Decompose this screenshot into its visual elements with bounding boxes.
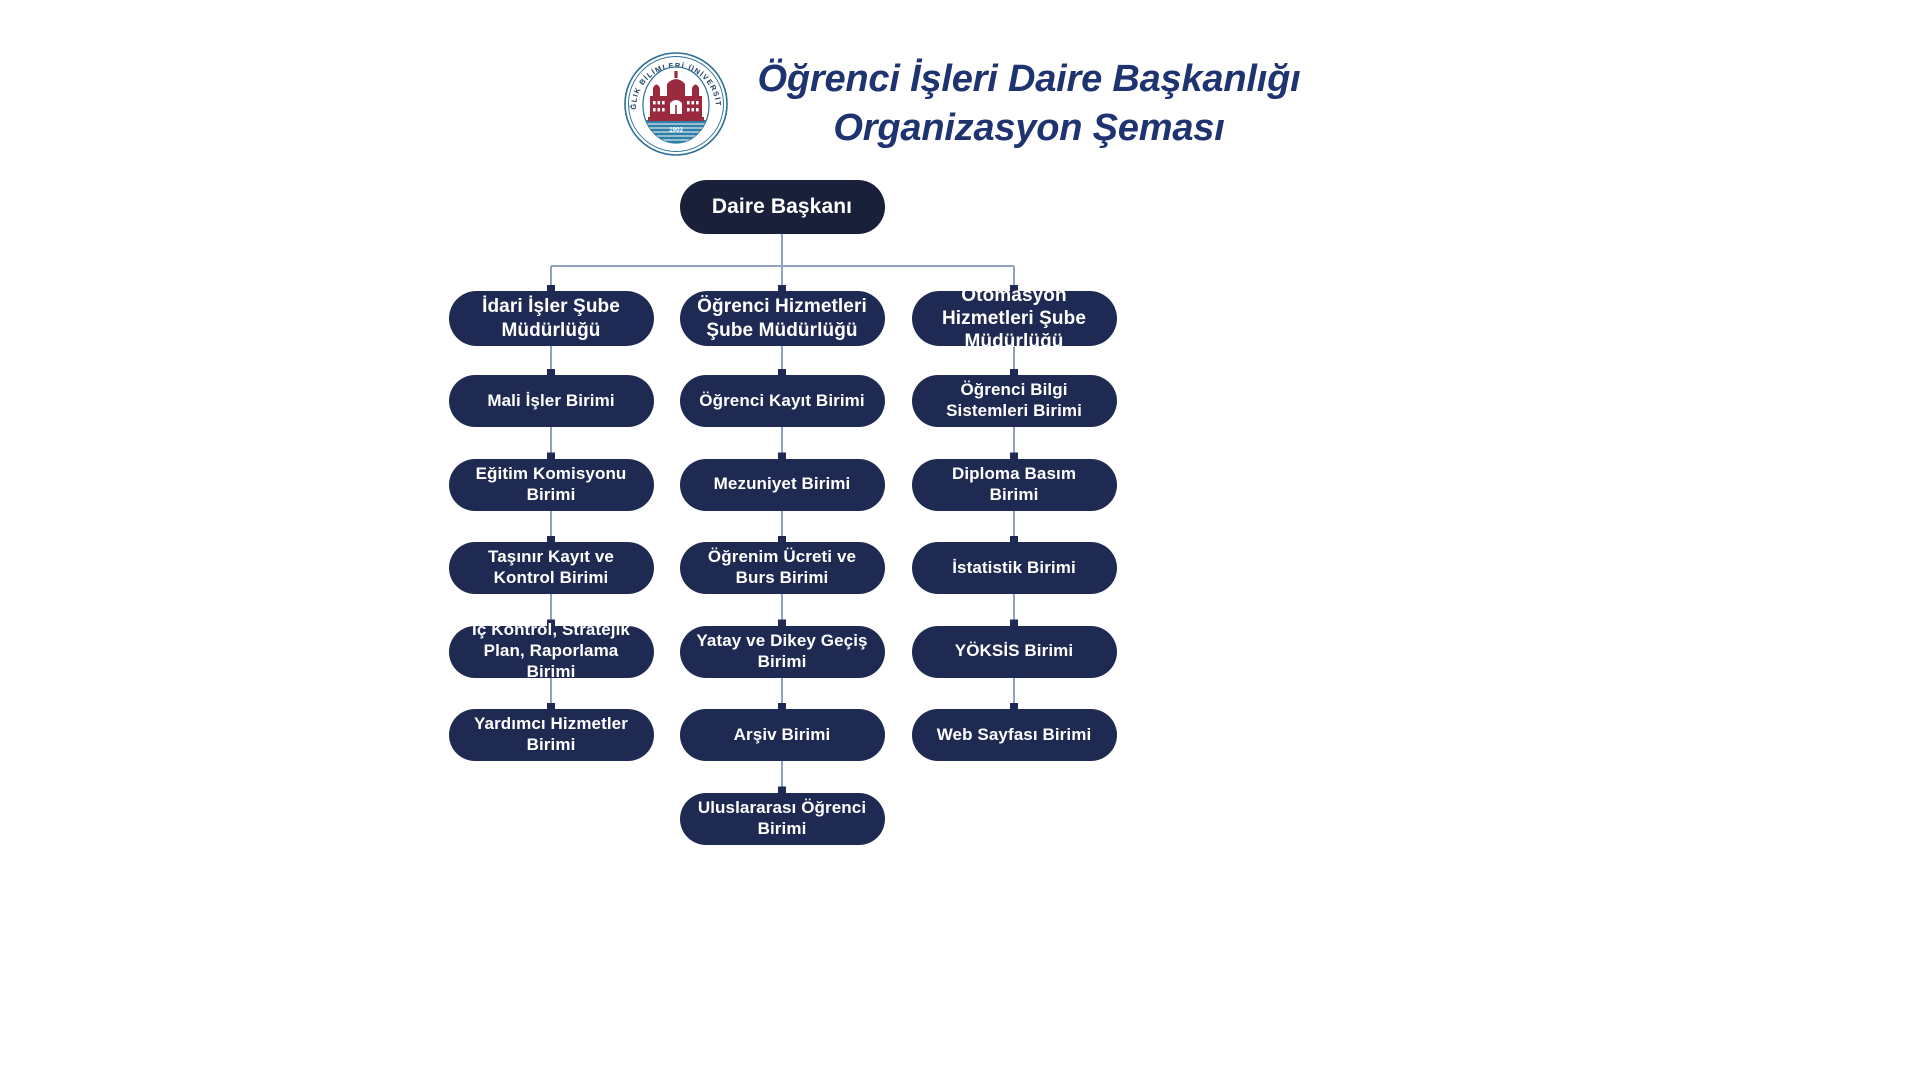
node-unit-yoksi-s-birimi[interactable]: YÖKSİS Birimi xyxy=(912,626,1117,678)
node-label: Yardımcı Hizmetler Birimi xyxy=(463,714,640,755)
node-label: Arşiv Birimi xyxy=(734,725,831,746)
node-unit-mali-i-sler-birimi[interactable]: Mali İşler Birimi xyxy=(449,375,654,427)
node-unit-mezuniyet-birimi[interactable]: Mezuniyet Birimi xyxy=(680,459,885,511)
node-label: Eğitim Komisyonu Birimi xyxy=(463,464,640,505)
node-unit-tasinir-kayit-ve-kontrol-birimi[interactable]: Taşınır Kayıt ve Kontrol Birimi xyxy=(449,542,654,594)
node-unit-diploma-basim-birimi[interactable]: Diploma Basım Birimi xyxy=(912,459,1117,511)
node-unit-uluslararasi-ogrenci-birimi[interactable]: Uluslararası Öğrenci Birimi xyxy=(680,793,885,845)
node-label: Mali İşler Birimi xyxy=(487,391,614,412)
node-unit-web-sayfasi-birimi[interactable]: Web Sayfası Birimi xyxy=(912,709,1117,761)
node-unit-ogrenci-bilgi-sistemleri-birimi[interactable]: Öğrenci Bilgi Sistemleri Birimi xyxy=(912,375,1117,427)
node-head-ogrenci-hizmetleri-sube-mudurlugu[interactable]: Öğrenci Hizmetleri Şube Müdürlüğü xyxy=(680,291,885,346)
node-label: Otomasyon Hizmetleri Şube Müdürlüğü xyxy=(926,284,1103,354)
node-label: İç Kontrol, Stratejik Plan, Raporlama Bi… xyxy=(463,620,640,682)
node-unit-ogrenim-ucreti-ve-burs-birimi[interactable]: Öğrenim Ücreti ve Burs Birimi xyxy=(680,542,885,594)
node-label: Yatay ve Dikey Geçiş Birimi xyxy=(694,631,871,672)
node-head-otomasyon-hizmetleri-sube-mudurlugu[interactable]: Otomasyon Hizmetleri Şube Müdürlüğü xyxy=(912,291,1117,346)
node-unit-yardimci-hizmetler-birimi[interactable]: Yardımcı Hizmetler Birimi xyxy=(449,709,654,761)
node-unit-yatay-ve-dikey-gecis-birimi[interactable]: Yatay ve Dikey Geçiş Birimi xyxy=(680,626,885,678)
node-head-i-dari-i-sler-sube-mudurlugu[interactable]: İdari İşler Şube Müdürlüğü xyxy=(449,291,654,346)
node-label: YÖKSİS Birimi xyxy=(955,641,1073,662)
node-label: İstatistik Birimi xyxy=(952,558,1076,579)
node-label: Mezuniyet Birimi xyxy=(714,474,851,495)
node-label: Diploma Basım Birimi xyxy=(926,464,1103,505)
node-label: Web Sayfası Birimi xyxy=(937,725,1092,746)
node-label: Öğrenim Ücreti ve Burs Birimi xyxy=(694,547,871,588)
node-label: Öğrenci Bilgi Sistemleri Birimi xyxy=(926,380,1103,421)
node-unit-i-c-kontrol-stratejik-plan-raporlama-birimi[interactable]: İç Kontrol, Stratejik Plan, Raporlama Bi… xyxy=(449,626,654,678)
node-label: Öğrenci Hizmetleri Şube Müdürlüğü xyxy=(694,295,871,341)
node-label: Uluslararası Öğrenci Birimi xyxy=(694,798,871,839)
node-unit-arsiv-birimi[interactable]: Arşiv Birimi xyxy=(680,709,885,761)
node-unit-i-statistik-birimi[interactable]: İstatistik Birimi xyxy=(912,542,1117,594)
node-label: İdari İşler Şube Müdürlüğü xyxy=(463,295,640,341)
node-unit-egitim-komisyonu-birimi[interactable]: Eğitim Komisyonu Birimi xyxy=(449,459,654,511)
node-label: Taşınır Kayıt ve Kontrol Birimi xyxy=(463,547,640,588)
connector-lines xyxy=(0,0,1920,1080)
node-unit-ogrenci-kayit-birimi[interactable]: Öğrenci Kayıt Birimi xyxy=(680,375,885,427)
node-label: Daire Başkanı xyxy=(712,194,852,220)
node-label: Öğrenci Kayıt Birimi xyxy=(699,391,864,412)
org-chart: Daire Başkanıİdari İşler Şube MüdürlüğüM… xyxy=(0,0,1920,1080)
node-daire-baskani[interactable]: Daire Başkanı xyxy=(680,180,885,234)
